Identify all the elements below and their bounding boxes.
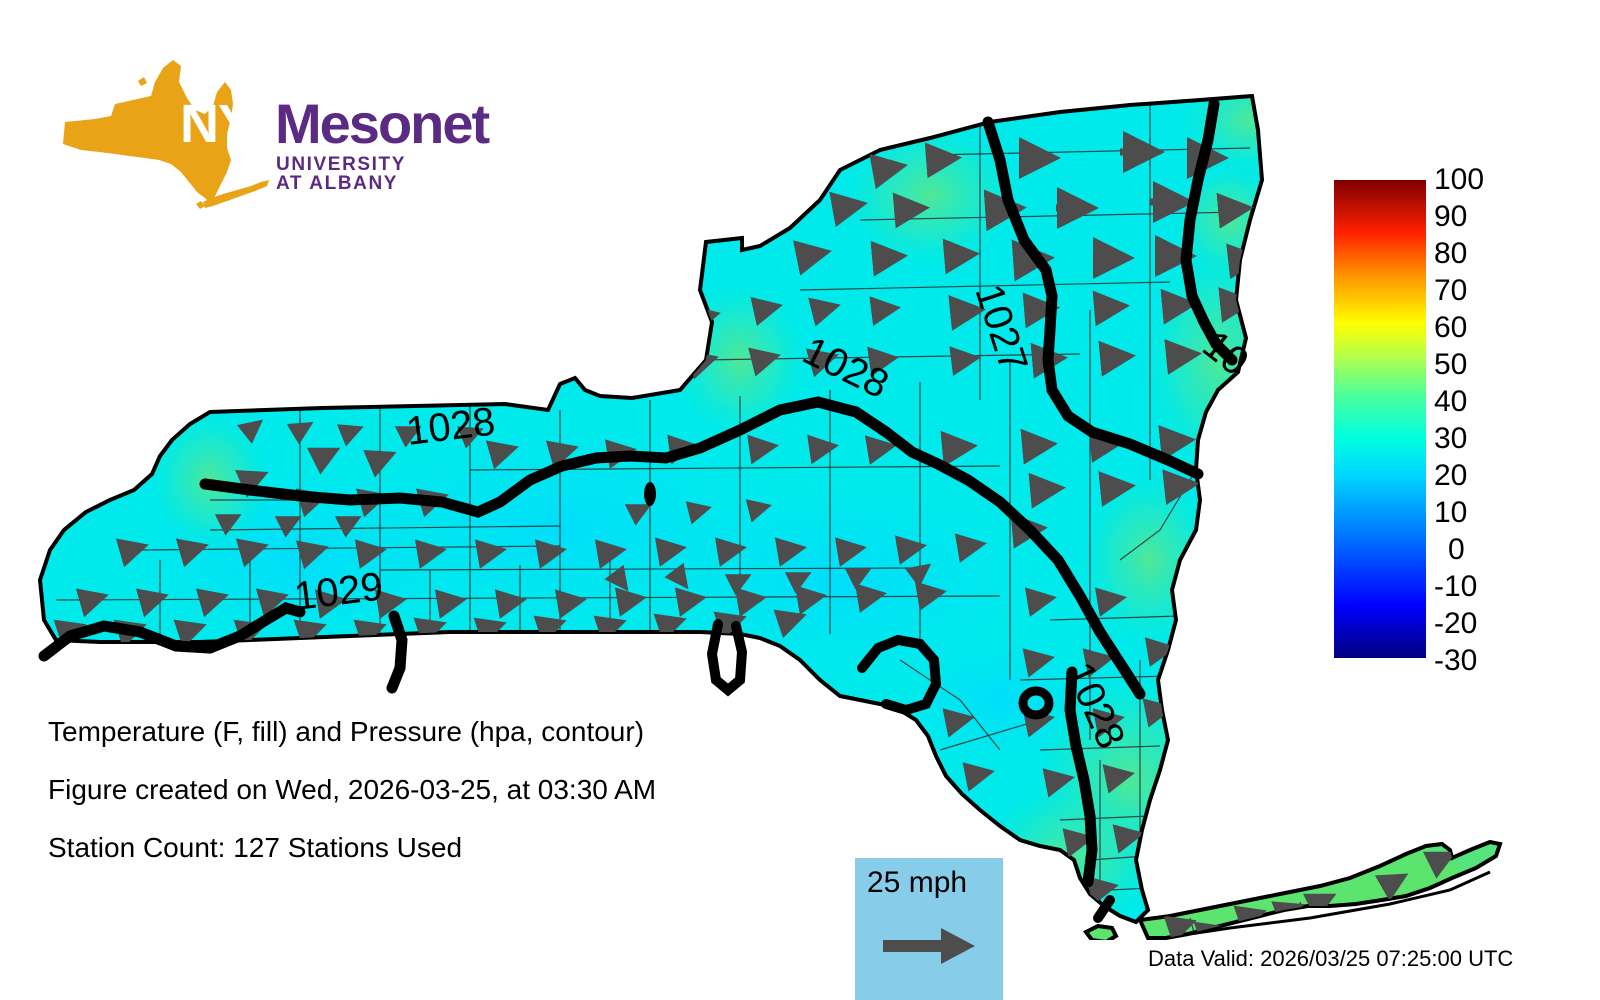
colorbar-tick-30: 30 xyxy=(1434,424,1467,454)
colorbar-tick-60: 60 xyxy=(1434,313,1467,343)
caption-station-count: Station Count: 127 Stations Used xyxy=(48,834,808,862)
data-valid-timestamp: Data Valid: 2026/03/25 07:25:00 UTC xyxy=(1148,946,1513,972)
colorbar-tick-20: 20 xyxy=(1434,461,1467,491)
colorbar-tick-0: 0 xyxy=(1448,535,1465,565)
temperature-colorbar xyxy=(1334,180,1426,658)
colorbar-tick-neg20: -20 xyxy=(1434,609,1477,639)
colorbar-tick-neg30: -30 xyxy=(1434,646,1477,676)
temperature-fill-long-island xyxy=(1100,820,1560,940)
colorbar-tick-70: 70 xyxy=(1434,276,1467,306)
weather-map-page: NYS Mesonet UNIVERSITY AT ALBANY xyxy=(0,0,1600,1000)
caption-block: Temperature (F, fill) and Pressure (hpa,… xyxy=(48,718,808,892)
colorbar-tick-40: 40 xyxy=(1434,387,1467,417)
colorbar-tick-80: 80 xyxy=(1434,239,1467,269)
colorbar-tick-neg10: -10 xyxy=(1434,572,1477,602)
colorbar-tick-90: 90 xyxy=(1434,202,1467,232)
wind-legend-label: 25 mph xyxy=(867,868,967,898)
caption-created: Figure created on Wed, 2026-03-25, at 03… xyxy=(48,776,808,804)
colorbar-tick-10: 10 xyxy=(1434,498,1467,528)
caption-title: Temperature (F, fill) and Pressure (hpa,… xyxy=(48,718,808,746)
colorbar-tick-labels: 100 90 80 70 60 50 40 30 20 10 0 -10 -20… xyxy=(1434,165,1554,675)
wind-speed-legend: 25 mph xyxy=(855,858,1003,1000)
colorbar-tick-100: 100 xyxy=(1434,165,1484,195)
wind-legend-arrow-icon xyxy=(883,926,977,966)
colorbar-tick-50: 50 xyxy=(1434,350,1467,380)
